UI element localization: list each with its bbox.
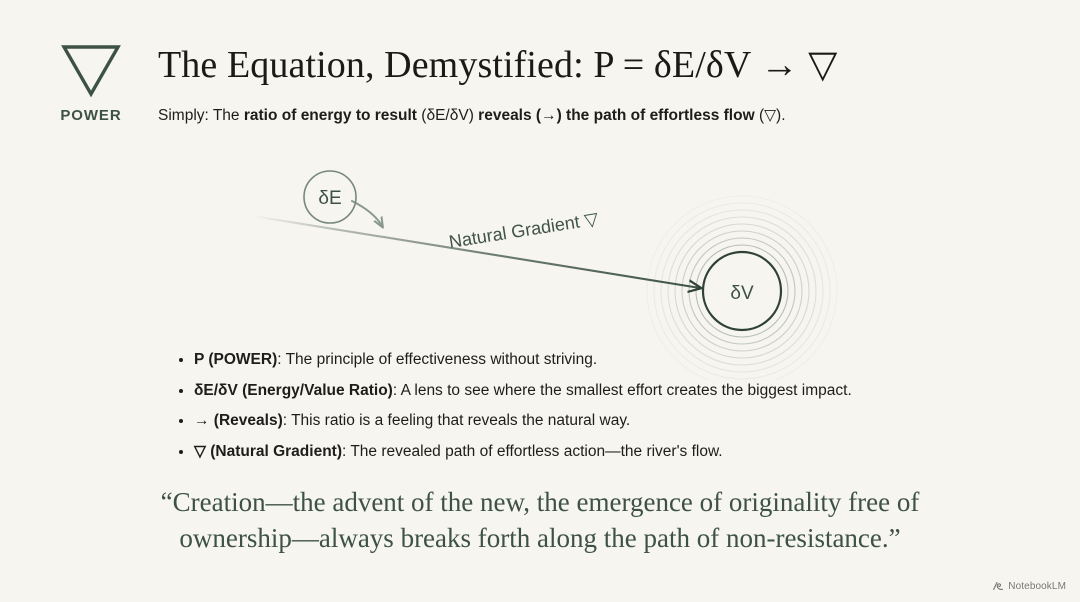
power-badge: POWER xyxy=(52,42,130,124)
source-node-delta-e: δE xyxy=(304,171,356,223)
concept-description: : The revealed path of effortless action… xyxy=(342,443,723,460)
notebooklm-spiral-icon xyxy=(992,580,1004,592)
notebooklm-watermark: NotebookLM xyxy=(992,580,1066,592)
source-node-label: δE xyxy=(318,188,341,209)
concept-term: P (POWER) xyxy=(194,351,277,368)
pull-quote-line-2: ownership—always breaks forth along the … xyxy=(90,520,990,556)
gradient-caption: Natural Gradient ▽ xyxy=(447,209,599,252)
concept-term: ▽ (Natural Gradient) xyxy=(194,443,342,460)
nabla-triangle-icon xyxy=(60,42,122,98)
list-item: ▽ (Natural Gradient): The revealed path … xyxy=(194,444,1054,460)
gradient-diagram-svg: δE δV Natural Gradient ▽ xyxy=(0,150,1080,380)
pull-quote-line-1: “Creation—the advent of the new, the eme… xyxy=(90,484,990,520)
page-subtitle-segment-4: (▽). xyxy=(755,107,786,124)
concept-term: → (Reveals) xyxy=(194,412,283,429)
page-subtitle-segment-2: (δE/δV) xyxy=(417,107,478,124)
flow-hint-arrow-icon xyxy=(352,201,382,226)
concept-description: : A lens to see where the smallest effor… xyxy=(393,382,852,399)
concept-description: : The principle of effectiveness without… xyxy=(277,351,597,368)
page-subtitle: Simply: The ratio of energy to result (δ… xyxy=(158,106,1038,127)
concept-list: P (POWER): The principle of effectivenes… xyxy=(170,352,1054,474)
list-item: → (Reveals): This ratio is a feeling tha… xyxy=(194,413,1054,429)
target-node-delta-v: δV xyxy=(703,252,781,330)
pull-quote: “Creation—the advent of the new, the eme… xyxy=(90,484,990,556)
page-subtitle-segment-3: reveals (→) the path of effortless flow xyxy=(478,107,754,124)
gradient-diagram: δE δV Natural Gradient ▽ xyxy=(0,150,1080,380)
concept-description: : This ratio is a feeling that reveals t… xyxy=(283,412,631,429)
notebooklm-watermark-label: NotebookLM xyxy=(1008,581,1066,592)
page-subtitle-segment-1: ratio of energy to result xyxy=(244,107,417,124)
target-node-label: δV xyxy=(730,283,754,304)
list-item: P (POWER): The principle of effectivenes… xyxy=(194,352,1054,368)
header-block: The Equation, Demystified: P = δE/δV → ▽… xyxy=(158,44,1038,127)
page-title: The Equation, Demystified: P = δE/δV → ▽ xyxy=(158,44,1038,88)
list-item: δE/δV (Energy/Value Ratio): A lens to se… xyxy=(194,383,1054,399)
concept-term: δE/δV (Energy/Value Ratio) xyxy=(194,382,393,399)
page-subtitle-segment-0: Simply: The xyxy=(158,107,244,124)
power-badge-label: POWER xyxy=(52,107,130,124)
